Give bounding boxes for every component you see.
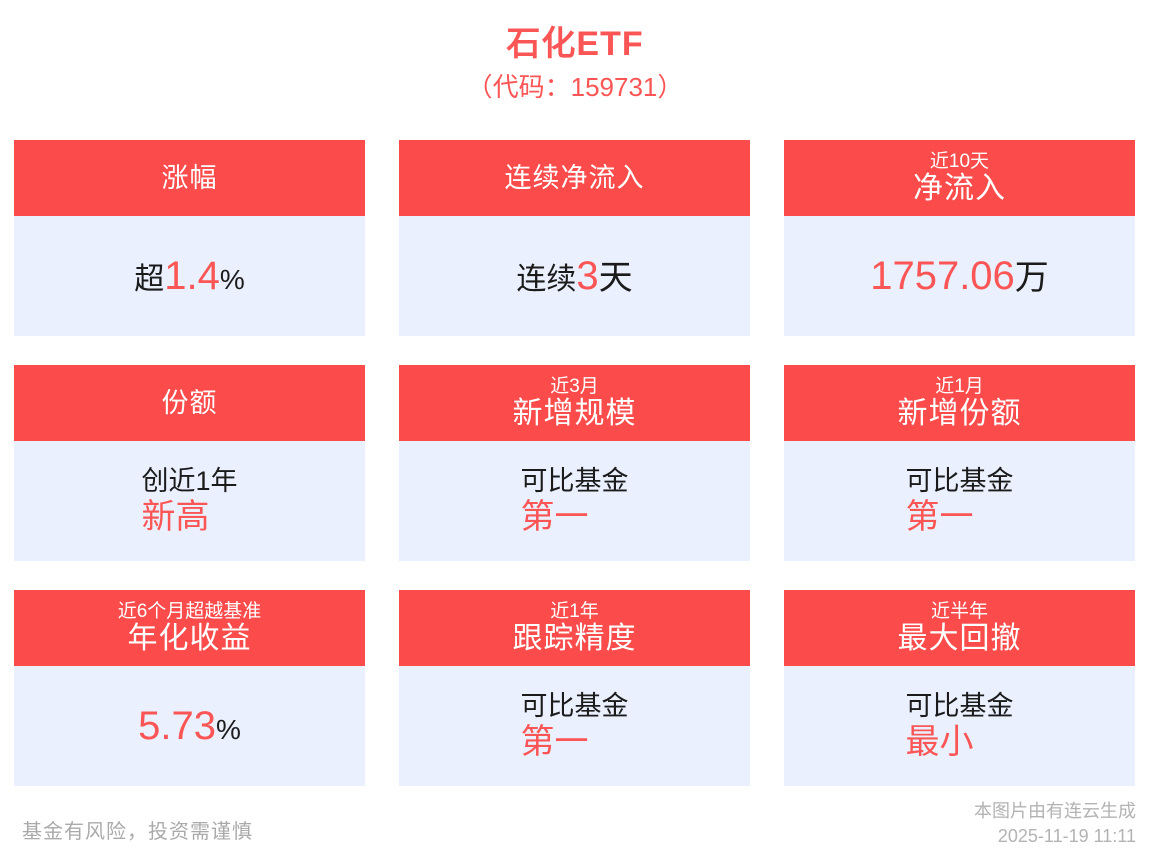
card-header: 份额 [14, 365, 365, 441]
metric-card: 近半年 最大回撤 可比基金 最小 [784, 590, 1135, 786]
card-body: 可比基金 第一 [784, 441, 1135, 561]
risk-disclaimer: 基金有风险，投资需谨慎 [22, 815, 253, 844]
card-header-period: 近1月 [935, 376, 984, 397]
footer: 基金有风险，投资需谨慎 本图片由有连云生成 2025-11-19 11:11 [0, 790, 1150, 860]
card-two-line: 创近1年 新高 [141, 466, 237, 535]
card-header: 近1月 新增份额 [784, 365, 1135, 441]
card-body-line2: 第一 [906, 498, 1014, 536]
card-header-label: 跟踪精度 [513, 622, 637, 656]
card-value-prefix: 连续 [516, 263, 576, 297]
card-header: 近6个月超越基准 年化收益 [14, 590, 365, 666]
card-value-suffix: 天 [599, 259, 633, 297]
card-value-suffix: % [216, 714, 241, 745]
card-two-line: 可比基金 最小 [906, 691, 1014, 760]
card-body-line1: 可比基金 [906, 466, 1014, 496]
card-value: 超1.4% [134, 254, 245, 299]
metric-card: 连续净流入 连续3天 [399, 140, 750, 336]
card-body-line2: 第一 [521, 498, 629, 536]
card-header-period: 近6个月超越基准 [118, 601, 262, 622]
card-body: 可比基金 第一 [399, 666, 750, 786]
card-header-label: 净流入 [913, 172, 1006, 206]
card-body-line1: 可比基金 [521, 466, 629, 496]
card-header-label: 连续净流入 [505, 163, 645, 193]
card-header-label: 新增规模 [513, 397, 637, 431]
card-header-label: 年化收益 [128, 622, 252, 656]
card-header: 连续净流入 [399, 140, 750, 216]
card-header-label: 新增份额 [898, 397, 1022, 431]
card-header-period: 近3月 [550, 376, 599, 397]
card-value: 连续3天 [516, 254, 632, 299]
etf-poster: 石化ETF （代码：159731） 涨幅 超1.4% [0, 0, 1150, 860]
card-header-period: 近10天 [930, 151, 989, 172]
card-header-label: 最大回撤 [898, 622, 1022, 656]
card-body: 超1.4% [14, 216, 365, 336]
card-body: 连续3天 [399, 216, 750, 336]
card-value-suffix: % [220, 264, 245, 295]
metric-card: 近6个月超越基准 年化收益 5.73% [14, 590, 365, 786]
card-body-line1: 可比基金 [521, 691, 629, 721]
card-value: 1757.06万 [870, 254, 1049, 299]
card-body: 1757.06万 [784, 216, 1135, 336]
metric-card: 近1月 新增份额 可比基金 第一 [784, 365, 1135, 561]
card-two-line: 可比基金 第一 [521, 466, 629, 535]
metric-card-grid: 涨幅 超1.4% 连续净流入 连续3天 [14, 140, 1136, 786]
card-header: 近10天 净流入 [784, 140, 1135, 216]
card-body: 可比基金 第一 [399, 441, 750, 561]
page-title: 石化ETF [0, 22, 1150, 66]
card-body: 创近1年 新高 [14, 441, 365, 561]
card-header: 近半年 最大回撤 [784, 590, 1135, 666]
card-header-period: 近半年 [931, 601, 988, 622]
card-body: 5.73% [14, 666, 365, 786]
card-value-number: 3 [576, 254, 598, 299]
card-value-prefix: 超 [134, 263, 164, 297]
metric-card: 近3月 新增规模 可比基金 第一 [399, 365, 750, 561]
card-header-label: 份额 [162, 388, 218, 418]
fund-code-subtitle: （代码：159731） [0, 68, 1150, 106]
card-value-suffix: 万 [1015, 259, 1049, 297]
metric-card: 近1年 跟踪精度 可比基金 第一 [399, 590, 750, 786]
metric-card: 涨幅 超1.4% [14, 140, 365, 336]
card-body: 可比基金 最小 [784, 666, 1135, 786]
card-body-line1: 创近1年 [141, 466, 237, 496]
card-body-line2: 第一 [521, 723, 629, 761]
card-header-label: 涨幅 [162, 163, 218, 193]
card-header-period: 近1年 [550, 601, 599, 622]
card-value-number: 5.73 [138, 704, 216, 749]
generation-timestamp: 2025-11-19 11:11 [974, 824, 1136, 848]
page-header: 石化ETF （代码：159731） [0, 0, 1150, 106]
card-body-line2: 最小 [906, 723, 1014, 761]
card-header: 涨幅 [14, 140, 365, 216]
card-value: 5.73% [138, 704, 241, 749]
metric-card: 份额 创近1年 新高 [14, 365, 365, 561]
card-two-line: 可比基金 第一 [906, 466, 1014, 535]
card-body-line1: 可比基金 [906, 691, 1014, 721]
card-header: 近1年 跟踪精度 [399, 590, 750, 666]
card-two-line: 可比基金 第一 [521, 691, 629, 760]
metric-card: 近10天 净流入 1757.06万 [784, 140, 1135, 336]
card-value-number: 1757.06 [870, 254, 1015, 299]
generator-source: 本图片由有连云生成 [974, 799, 1136, 823]
card-value-number: 1.4 [164, 254, 220, 299]
generation-info: 本图片由有连云生成 2025-11-19 11:11 [974, 799, 1136, 848]
card-header: 近3月 新增规模 [399, 365, 750, 441]
card-body-line2: 新高 [141, 498, 237, 536]
